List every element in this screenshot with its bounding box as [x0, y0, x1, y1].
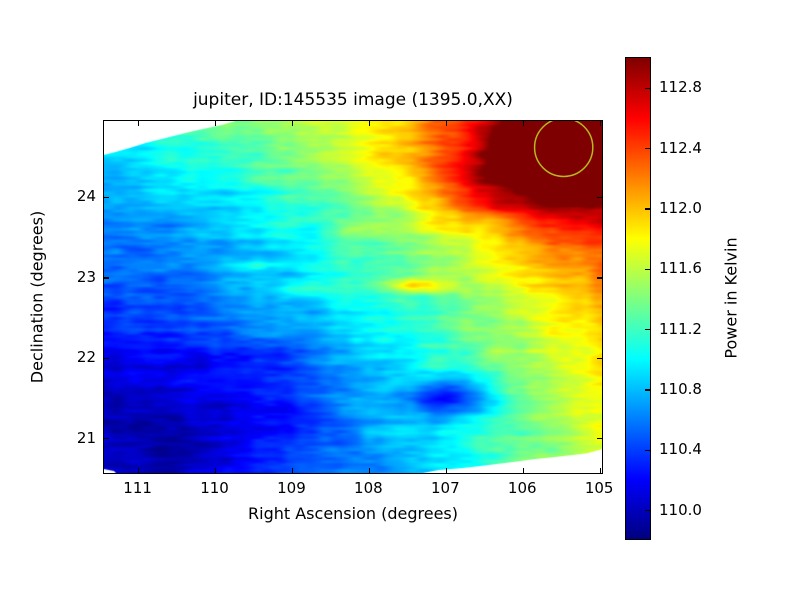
colorbar-tick-label: 112.0 — [659, 199, 702, 217]
y-tick-mark-right — [597, 277, 602, 278]
colorbar-tick-label: 110.0 — [659, 501, 702, 519]
colorbar-tick-mark — [645, 389, 650, 390]
colorbar-tick-mark — [645, 450, 650, 451]
page-title: jupiter, ID:145535 image (1395.0,XX) — [103, 90, 603, 110]
x-tick-mark-bottom — [215, 468, 216, 473]
x-tick-label: 111 — [123, 479, 152, 497]
x-tick-mark-top — [369, 121, 370, 126]
heatmap-image[interactable] — [104, 121, 602, 473]
x-tick-mark-bottom — [369, 468, 370, 473]
colorbar-tick-mark — [645, 88, 650, 89]
x-tick-mark-top — [600, 121, 601, 126]
colorbar-tick-label: 111.2 — [659, 320, 702, 338]
y-tick-mark-right — [597, 197, 602, 198]
colorbar-tick-label: 110.8 — [659, 380, 702, 398]
x-tick-label: 109 — [277, 479, 306, 497]
y-tick-label: 22 — [77, 348, 96, 366]
colorbar-tick-mark — [645, 208, 650, 209]
y-tick-label: 21 — [77, 429, 96, 447]
x-tick-mark-bottom — [523, 468, 524, 473]
y-tick-mark-left — [104, 197, 109, 198]
x-tick-mark-bottom — [600, 468, 601, 473]
colorbar-tick-mark — [645, 269, 650, 270]
x-tick-mark-bottom — [138, 468, 139, 473]
x-tick-label: 110 — [200, 479, 229, 497]
colorbar-label: Power in Kelvin — [722, 237, 741, 358]
y-tick-mark-left — [104, 277, 109, 278]
colorbar-tick-mark — [645, 329, 650, 330]
colorbar-gradient — [626, 58, 650, 539]
x-tick-mark-bottom — [446, 468, 447, 473]
y-axis-label: Declination (degrees) — [28, 211, 47, 383]
x-tick-mark-bottom — [292, 468, 293, 473]
colorbar-tick-mark — [645, 510, 650, 511]
colorbar-tick-mark — [645, 148, 650, 149]
heatmap-axes[interactable] — [103, 120, 603, 474]
x-tick-label: 107 — [431, 479, 460, 497]
x-tick-mark-top — [446, 121, 447, 126]
y-tick-label: 23 — [77, 268, 96, 286]
x-tick-mark-top — [138, 121, 139, 126]
colorbar-tick-label: 112.4 — [659, 139, 702, 157]
x-axis-label: Right Ascension (degrees) — [103, 504, 603, 523]
x-tick-label: 106 — [508, 479, 537, 497]
y-tick-mark-right — [597, 358, 602, 359]
colorbar[interactable] — [625, 57, 651, 540]
x-tick-mark-top — [215, 121, 216, 126]
y-tick-label: 24 — [77, 187, 96, 205]
y-tick-mark-right — [597, 438, 602, 439]
x-tick-mark-top — [292, 121, 293, 126]
y-tick-mark-left — [104, 438, 109, 439]
x-tick-label: 105 — [585, 479, 614, 497]
figure-canvas: jupiter, ID:145535 image (1395.0,XX) 111… — [0, 0, 800, 600]
colorbar-tick-label: 111.6 — [659, 259, 702, 277]
colorbar-tick-label: 110.4 — [659, 440, 702, 458]
y-tick-mark-left — [104, 358, 109, 359]
x-tick-mark-top — [523, 121, 524, 126]
x-tick-label: 108 — [354, 479, 383, 497]
colorbar-tick-label: 112.8 — [659, 78, 702, 96]
